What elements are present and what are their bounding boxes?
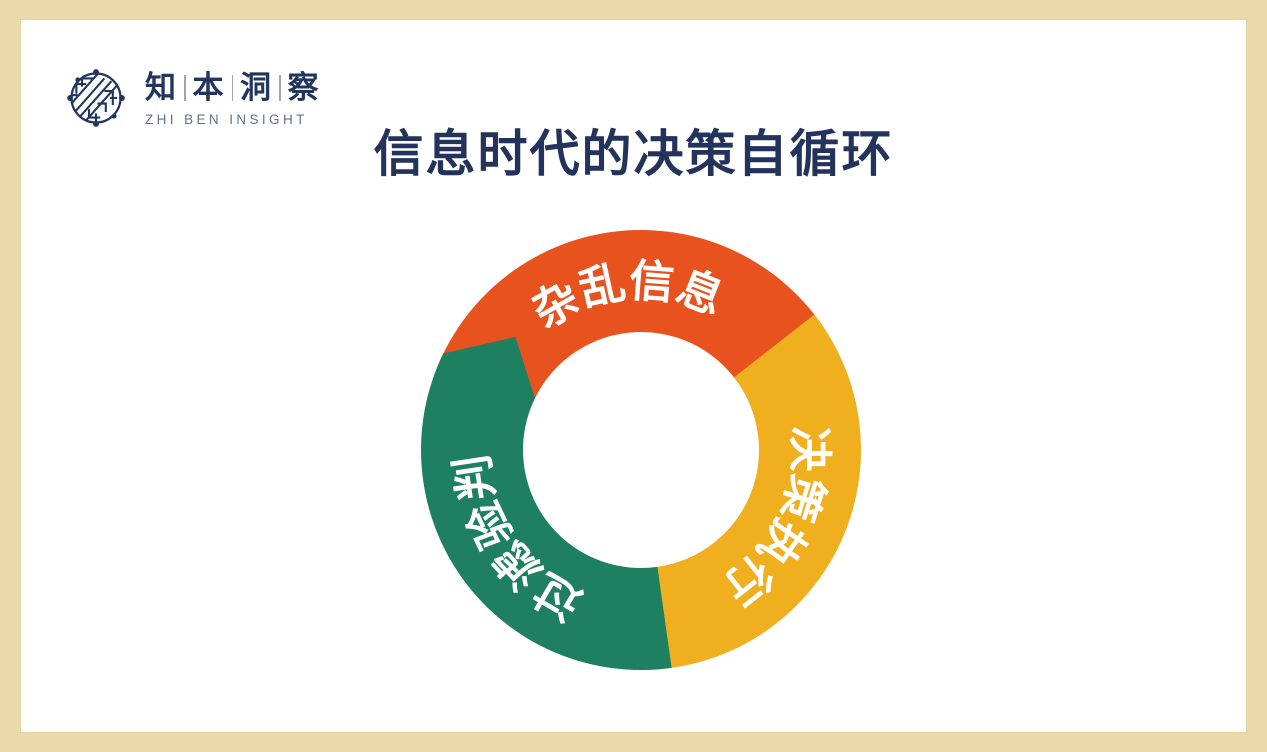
logo-separator-2 bbox=[232, 75, 234, 101]
logo-char-3: 洞 bbox=[240, 71, 272, 104]
decision-cycle-donut-chart: 杂乱信息决策执行过滤验判 bbox=[391, 200, 891, 700]
slide-canvas: 知 本 洞 察 ZHI BEN INSIGHT 信息时代的决策自循环 bbox=[21, 20, 1246, 732]
slide-outer-frame: 知 本 洞 察 ZHI BEN INSIGHT 信息时代的决策自循环 bbox=[0, 0, 1267, 752]
logo-char-4: 察 bbox=[288, 71, 320, 104]
logo-separator-3 bbox=[279, 75, 281, 101]
logo-wordmark: 知 本 洞 察 ZHI BEN INSIGHT bbox=[145, 69, 320, 126]
logo-separator-1 bbox=[184, 75, 186, 101]
donut-segment-3[interactable] bbox=[421, 337, 672, 670]
logo-char-2: 本 bbox=[193, 71, 225, 104]
logo-chinese-name: 知 本 洞 察 bbox=[145, 71, 320, 104]
logo-char-1: 知 bbox=[145, 71, 177, 104]
logo-english-name: ZHI BEN INSIGHT bbox=[145, 112, 320, 127]
zhi-ben-insight-circuit-emblem-icon bbox=[61, 63, 131, 133]
page-title: 信息时代的决策自循环 bbox=[21, 126, 1246, 184]
